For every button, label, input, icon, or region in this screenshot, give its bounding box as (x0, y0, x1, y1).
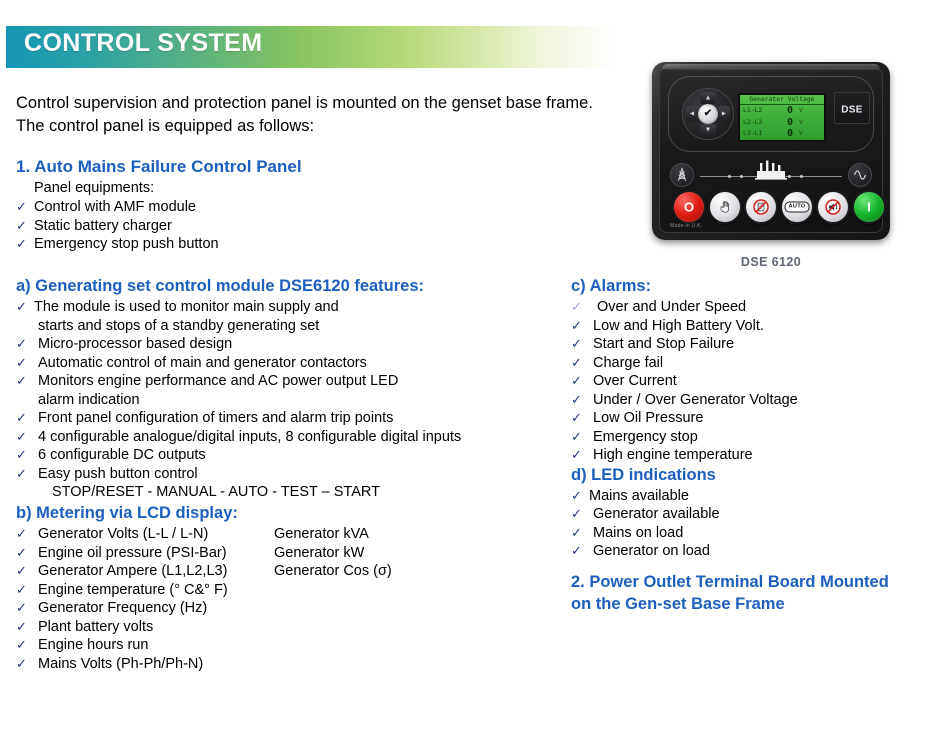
list-item-label: Static battery charger (34, 218, 172, 234)
check-icon: ✓ (571, 504, 582, 523)
list-item: ✓Generator Frequency (Hz) (16, 599, 496, 618)
metering-col2-item: Generator Cos (σ) (274, 562, 392, 581)
check-icon: ✓ (16, 524, 27, 543)
list-item: ✓Generator on load (571, 542, 941, 561)
check-icon: ✓ (16, 353, 27, 372)
dpad-center-confirm-button[interactable]: ✔ (698, 104, 718, 124)
lcd-row: L1-L2 0 V (740, 105, 824, 117)
lcd-row-label: L1-L2 (743, 105, 762, 117)
lcd-row-unit: V (799, 128, 803, 140)
list-item: ✓Engine temperature (° C&° F) (16, 581, 496, 600)
list-item-label: Emergency stop (593, 429, 698, 445)
section1-list: ✓Control with AMF module ✓Static battery… (16, 198, 486, 254)
lcd-row-label: L2-L3 (743, 117, 762, 129)
list-item-label: Mains Volts (Ph-Ph/Ph-N) (38, 656, 203, 672)
list-item-label: Under / Over Generator Voltage (593, 392, 798, 408)
check-icon: ✓ (16, 654, 27, 673)
list-item-continuation: starts and stops of a standby generating… (16, 317, 496, 336)
check-icon: ✓ (571, 445, 582, 464)
page-title: CONTROL SYSTEM (24, 29, 263, 58)
control-button-row: O AUTO (672, 190, 876, 222)
list-item: ✓Low and High Battery Volt. (571, 317, 941, 336)
check-icon: ✓ (16, 334, 27, 353)
lcd-row: L3-L1 0 V (740, 128, 824, 140)
sine-wave-glyph (852, 167, 868, 183)
list-item: ✓Emergency stop push button (16, 235, 486, 254)
manual-mode-button[interactable] (708, 190, 742, 224)
section1-heading: 1. Auto Mains Failure Control Panel (16, 157, 486, 177)
list-item-label: Emergency stop push button (34, 236, 219, 252)
mimic-dot (800, 175, 803, 178)
check-icon: ✓ (16, 580, 27, 599)
list-item: ✓Mains available (571, 487, 941, 506)
metering-col2-item: Generator kW (274, 544, 392, 563)
dpad-down-button[interactable]: ▼ (700, 124, 716, 136)
list-item: ✓Under / Over Generator Voltage (571, 391, 941, 410)
list-item-label: Plant battery volts (38, 619, 153, 635)
left-column: a) Generating set control module DSE6120… (16, 277, 496, 673)
list-item: ✓Micro-processor based design (16, 335, 496, 354)
dse-brand-text: DSE (841, 104, 862, 115)
list-item: ✓The module is used to monitor main supp… (16, 298, 496, 317)
lcd-row-value: 0 (787, 128, 793, 140)
lcd-title: Generator Voltage (740, 95, 824, 105)
made-in-label: Made in U.K. (670, 223, 702, 229)
list-item: ✓4 configurable analogue/digital inputs,… (16, 428, 496, 447)
lcd-row-unit: V (799, 105, 803, 117)
list-item-label: Front panel configuration of timers and … (38, 410, 393, 426)
test-mode-button[interactable] (744, 190, 778, 224)
list-item: ✓Engine hours run (16, 636, 496, 655)
section-auto-mains-failure: 1. Auto Mains Failure Control Panel Pane… (16, 157, 486, 254)
intro-paragraph: Control supervision and protection panel… (16, 92, 656, 138)
list-item-label: Over and Under Speed (597, 299, 746, 315)
check-icon: ✓ (16, 297, 27, 316)
start-icon: I (867, 201, 871, 214)
section-a-heading: a) Generating set control module DSE6120… (16, 277, 496, 296)
generator-icon (848, 163, 872, 187)
list-item: ✓Generator Volts (L-L / L-N) (16, 525, 496, 544)
check-icon: ✓ (16, 197, 27, 216)
mimic-diagram (670, 157, 872, 187)
list-item: ✓Generator Ampere (L1,L2,L3) (16, 562, 496, 581)
check-icon: ✓ (16, 617, 27, 636)
section-power-outlet-terminal-board: 2. Power Outlet Terminal Board Mounted o… (571, 571, 931, 615)
chevron-down-icon: ▼ (705, 127, 712, 134)
list-item: ✓Mains Volts (Ph-Ph/Ph-N) (16, 655, 496, 674)
list-item-label: alarm indication (38, 392, 140, 408)
list-item-label: Generator on load (593, 543, 710, 559)
list-item-label: Charge fail (593, 355, 663, 371)
check-icon: ✓ (571, 371, 582, 390)
lcd-row-label: L3-L1 (743, 128, 762, 140)
list-item: ✓Low Oil Pressure (571, 409, 941, 428)
start-button[interactable]: I (852, 190, 886, 224)
chevron-up-icon: ▲ (705, 95, 712, 102)
section1-subheading: Panel equipments: (34, 180, 486, 196)
list-item: ✓Start and Stop Failure (571, 335, 941, 354)
push-button-sequence: STOP/RESET - MANUAL - AUTO - TEST – STAR… (16, 483, 496, 502)
list-item: ✓Over Current (571, 372, 941, 391)
list-item-label: Over Current (593, 373, 677, 389)
controller-housing: ▲ ▼ ◄ ► ✔ Generator Voltage L1-L2 0 V L2… (652, 62, 890, 240)
lcd-row-value: 0 (787, 117, 793, 129)
stop-reset-button[interactable]: O (672, 190, 706, 224)
dse-6120-controller-image: ▲ ▼ ◄ ► ✔ Generator Voltage L1-L2 0 V L2… (652, 62, 890, 240)
dse-model-caption: DSE 6120 (652, 255, 890, 269)
list-item: ✓Emergency stop (571, 428, 941, 447)
check-icon: ✓ (16, 635, 27, 654)
list-item-label: Engine temperature (° C&° F) (38, 582, 228, 598)
check-icon: ✔ (704, 109, 712, 119)
test-prohibited-icon (753, 199, 770, 216)
list-item-label: Mains on load (593, 525, 683, 541)
hand-pointer-icon (718, 200, 732, 214)
check-icon: ✓ (571, 316, 582, 335)
list-item: ✓Monitors engine performance and AC powe… (16, 372, 496, 391)
led-indications-list: ✓Mains available ✓Generator available ✓M… (571, 487, 941, 561)
dpad-up-button[interactable]: ▲ (700, 92, 716, 104)
check-icon: ✓ (16, 543, 27, 562)
controller-top-gloss (662, 64, 880, 71)
list-item: ✓Engine oil pressure (PSI-Bar) (16, 544, 496, 563)
list-item-label: Engine oil pressure (PSI-Bar) (38, 545, 227, 561)
right-column: c) Alarms: ✓Over and Under Speed ✓Low an… (571, 277, 941, 561)
check-icon: ✓ (16, 464, 27, 483)
list-item-label: Start and Stop Failure (593, 336, 734, 352)
list-item-label: Generator Frequency (Hz) (38, 600, 207, 616)
section2-line-1: 2. Power Outlet Terminal Board Mounted (571, 571, 931, 593)
metering-lists: ✓Generator Volts (L-L / L-N) ✓Engine oil… (16, 525, 496, 673)
list-item-label: 4 configurable analogue/digital inputs, … (38, 429, 461, 445)
lcd-row-unit: V (799, 117, 803, 129)
list-item: ✓Generator available (571, 505, 941, 524)
intro-line-1: Control supervision and protection panel… (16, 92, 656, 115)
list-item-label: starts and stops of a standby generating… (38, 318, 319, 334)
check-icon: ✓ (16, 371, 27, 390)
check-icon: ✓ (571, 297, 582, 316)
check-icon: ✓ (571, 427, 582, 446)
list-item-label: Low Oil Pressure (593, 410, 703, 426)
check-icon: ✓ (16, 408, 27, 427)
alarms-list: ✓Over and Under Speed ✓Low and High Batt… (571, 298, 941, 465)
list-item-label: Engine hours run (38, 637, 148, 653)
list-item-label: Low and High Battery Volt. (593, 318, 764, 334)
list-item: ✓6 configurable DC outputs (16, 446, 496, 465)
section-b-heading: b) Metering via LCD display: (16, 504, 496, 523)
check-icon: ✓ (16, 445, 27, 464)
metering-column-2: Generator kVA Generator kW Generator Cos… (274, 525, 392, 581)
auto-label: AUTO (785, 202, 810, 213)
list-item-label: Generator Ampere (L1,L2,L3) (38, 563, 227, 579)
section-d-heading: d) LED indications (571, 466, 941, 485)
list-item: ✓High engine temperature (571, 446, 941, 465)
list-item: ✓Mains on load (571, 524, 941, 543)
navigation-dpad[interactable]: ▲ ▼ ◄ ► ✔ (682, 88, 734, 140)
lcd-row: L2-L3 0 V (740, 117, 824, 129)
list-item-label: Mains available (589, 488, 689, 504)
mimic-dot (728, 175, 731, 178)
section-a-list: ✓The module is used to monitor main supp… (16, 298, 496, 483)
check-icon: ✓ (16, 427, 27, 446)
check-icon: ✓ (16, 561, 27, 580)
list-item-label: High engine temperature (593, 447, 753, 463)
list-item: ✓Automatic control of main and generator… (16, 354, 496, 373)
list-item: ✓Charge fail (571, 354, 941, 373)
list-item-label: Generator available (593, 506, 720, 522)
stop-icon: O (684, 201, 694, 214)
pylon-glyph (674, 167, 690, 183)
list-item: ✓Plant battery volts (16, 618, 496, 637)
check-icon: ✓ (571, 541, 582, 560)
list-item-label: Micro-processor based design (38, 336, 232, 352)
check-icon: ✓ (571, 523, 582, 542)
list-item: ✓Over and Under Speed (571, 298, 941, 317)
check-icon: ✓ (16, 234, 27, 253)
metering-column-1: ✓Generator Volts (L-L / L-N) ✓Engine oil… (16, 525, 496, 673)
dpad-left-button[interactable]: ◄ (686, 106, 698, 122)
list-item: ✓Front panel configuration of timers and… (16, 409, 496, 428)
check-icon: ✓ (571, 408, 582, 427)
mute-prohibited-icon (825, 199, 842, 216)
check-icon: ✓ (571, 390, 582, 409)
list-item-label: Easy push button control (38, 466, 198, 482)
check-icon: ✓ (571, 486, 582, 505)
mains-supply-icon (670, 163, 694, 187)
check-icon: ✓ (16, 216, 27, 235)
list-item: ✓Static battery charger (16, 217, 486, 236)
list-item-label: Control with AMF module (34, 199, 196, 215)
list-item-continuation: alarm indication (16, 391, 496, 410)
list-item-label: Automatic control of main and generator … (38, 355, 367, 371)
load-factory-icon (751, 159, 791, 181)
lcd-display: Generator Voltage L1-L2 0 V L2-L3 0 V L3… (738, 93, 826, 142)
chevron-right-icon: ► (721, 111, 728, 118)
auto-mode-button[interactable]: AUTO (780, 190, 814, 224)
check-icon: ✓ (571, 353, 582, 372)
list-item-label: Monitors engine performance and AC power… (38, 373, 398, 389)
alarm-mute-button[interactable] (816, 190, 850, 224)
list-item-label: Generator Volts (L-L / L-N) (38, 526, 208, 542)
lcd-row-value: 0 (787, 105, 793, 117)
list-item: ✓Easy push button control (16, 465, 496, 484)
dpad-right-button[interactable]: ► (718, 106, 730, 122)
list-item-label: 6 configurable DC outputs (38, 447, 206, 463)
dse-brand-logo: DSE (834, 92, 870, 124)
list-item: ✓Control with AMF module (16, 198, 486, 217)
metering-col2-item: Generator kVA (274, 525, 392, 544)
check-icon: ✓ (571, 334, 582, 353)
section-c-heading: c) Alarms: (571, 277, 941, 296)
list-item-label: The module is used to monitor main suppl… (34, 299, 339, 315)
check-icon: ✓ (16, 598, 27, 617)
chevron-left-icon: ◄ (689, 111, 696, 118)
mimic-dot (740, 175, 743, 178)
section2-line-2: on the Gen-set Base Frame (571, 593, 931, 615)
intro-line-2: The control panel is equipped as follows… (16, 115, 656, 138)
